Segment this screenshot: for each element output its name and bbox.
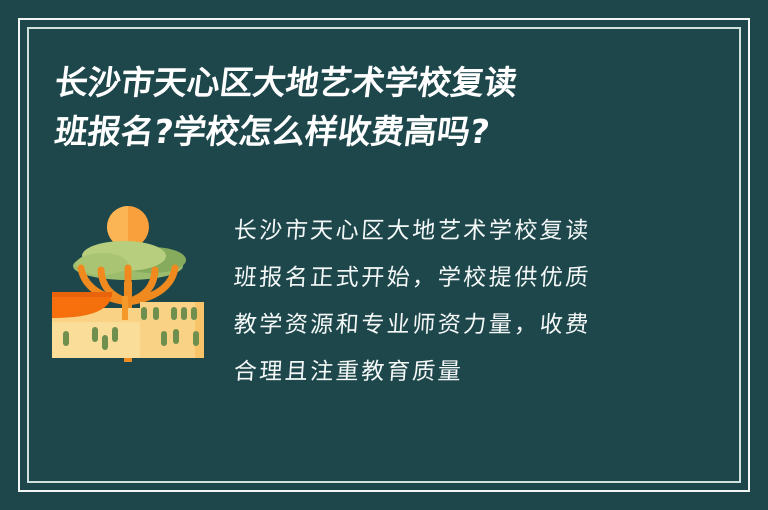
page-title: 长沙市天心区大地艺术学校复读 班报名?学校怎么样收费高吗? — [52, 58, 712, 156]
building-icon — [52, 292, 204, 358]
poster-canvas: 长沙市天心区大地艺术学校复读 班报名?学校怎么样收费高吗? — [0, 0, 768, 510]
body-copy: 长沙市天心区大地艺术学校复读 班报名正式开始，学校提供优质 教学资源和专业师资力… — [232, 208, 662, 396]
body-line-3: 教学资源和专业师资力量，收费 — [232, 302, 665, 349]
campus-illustration — [40, 190, 220, 370]
body-line-1: 长沙市天心区大地艺术学校复读 — [232, 208, 665, 255]
body-line-4: 合理且注重教育质量 — [232, 349, 665, 396]
title-line-1: 长沙市天心区大地艺术学校复读 — [52, 58, 718, 107]
title-line-2: 班报名?学校怎么样收费高吗? — [52, 107, 718, 156]
body-line-2: 班报名正式开始，学校提供优质 — [232, 255, 665, 302]
